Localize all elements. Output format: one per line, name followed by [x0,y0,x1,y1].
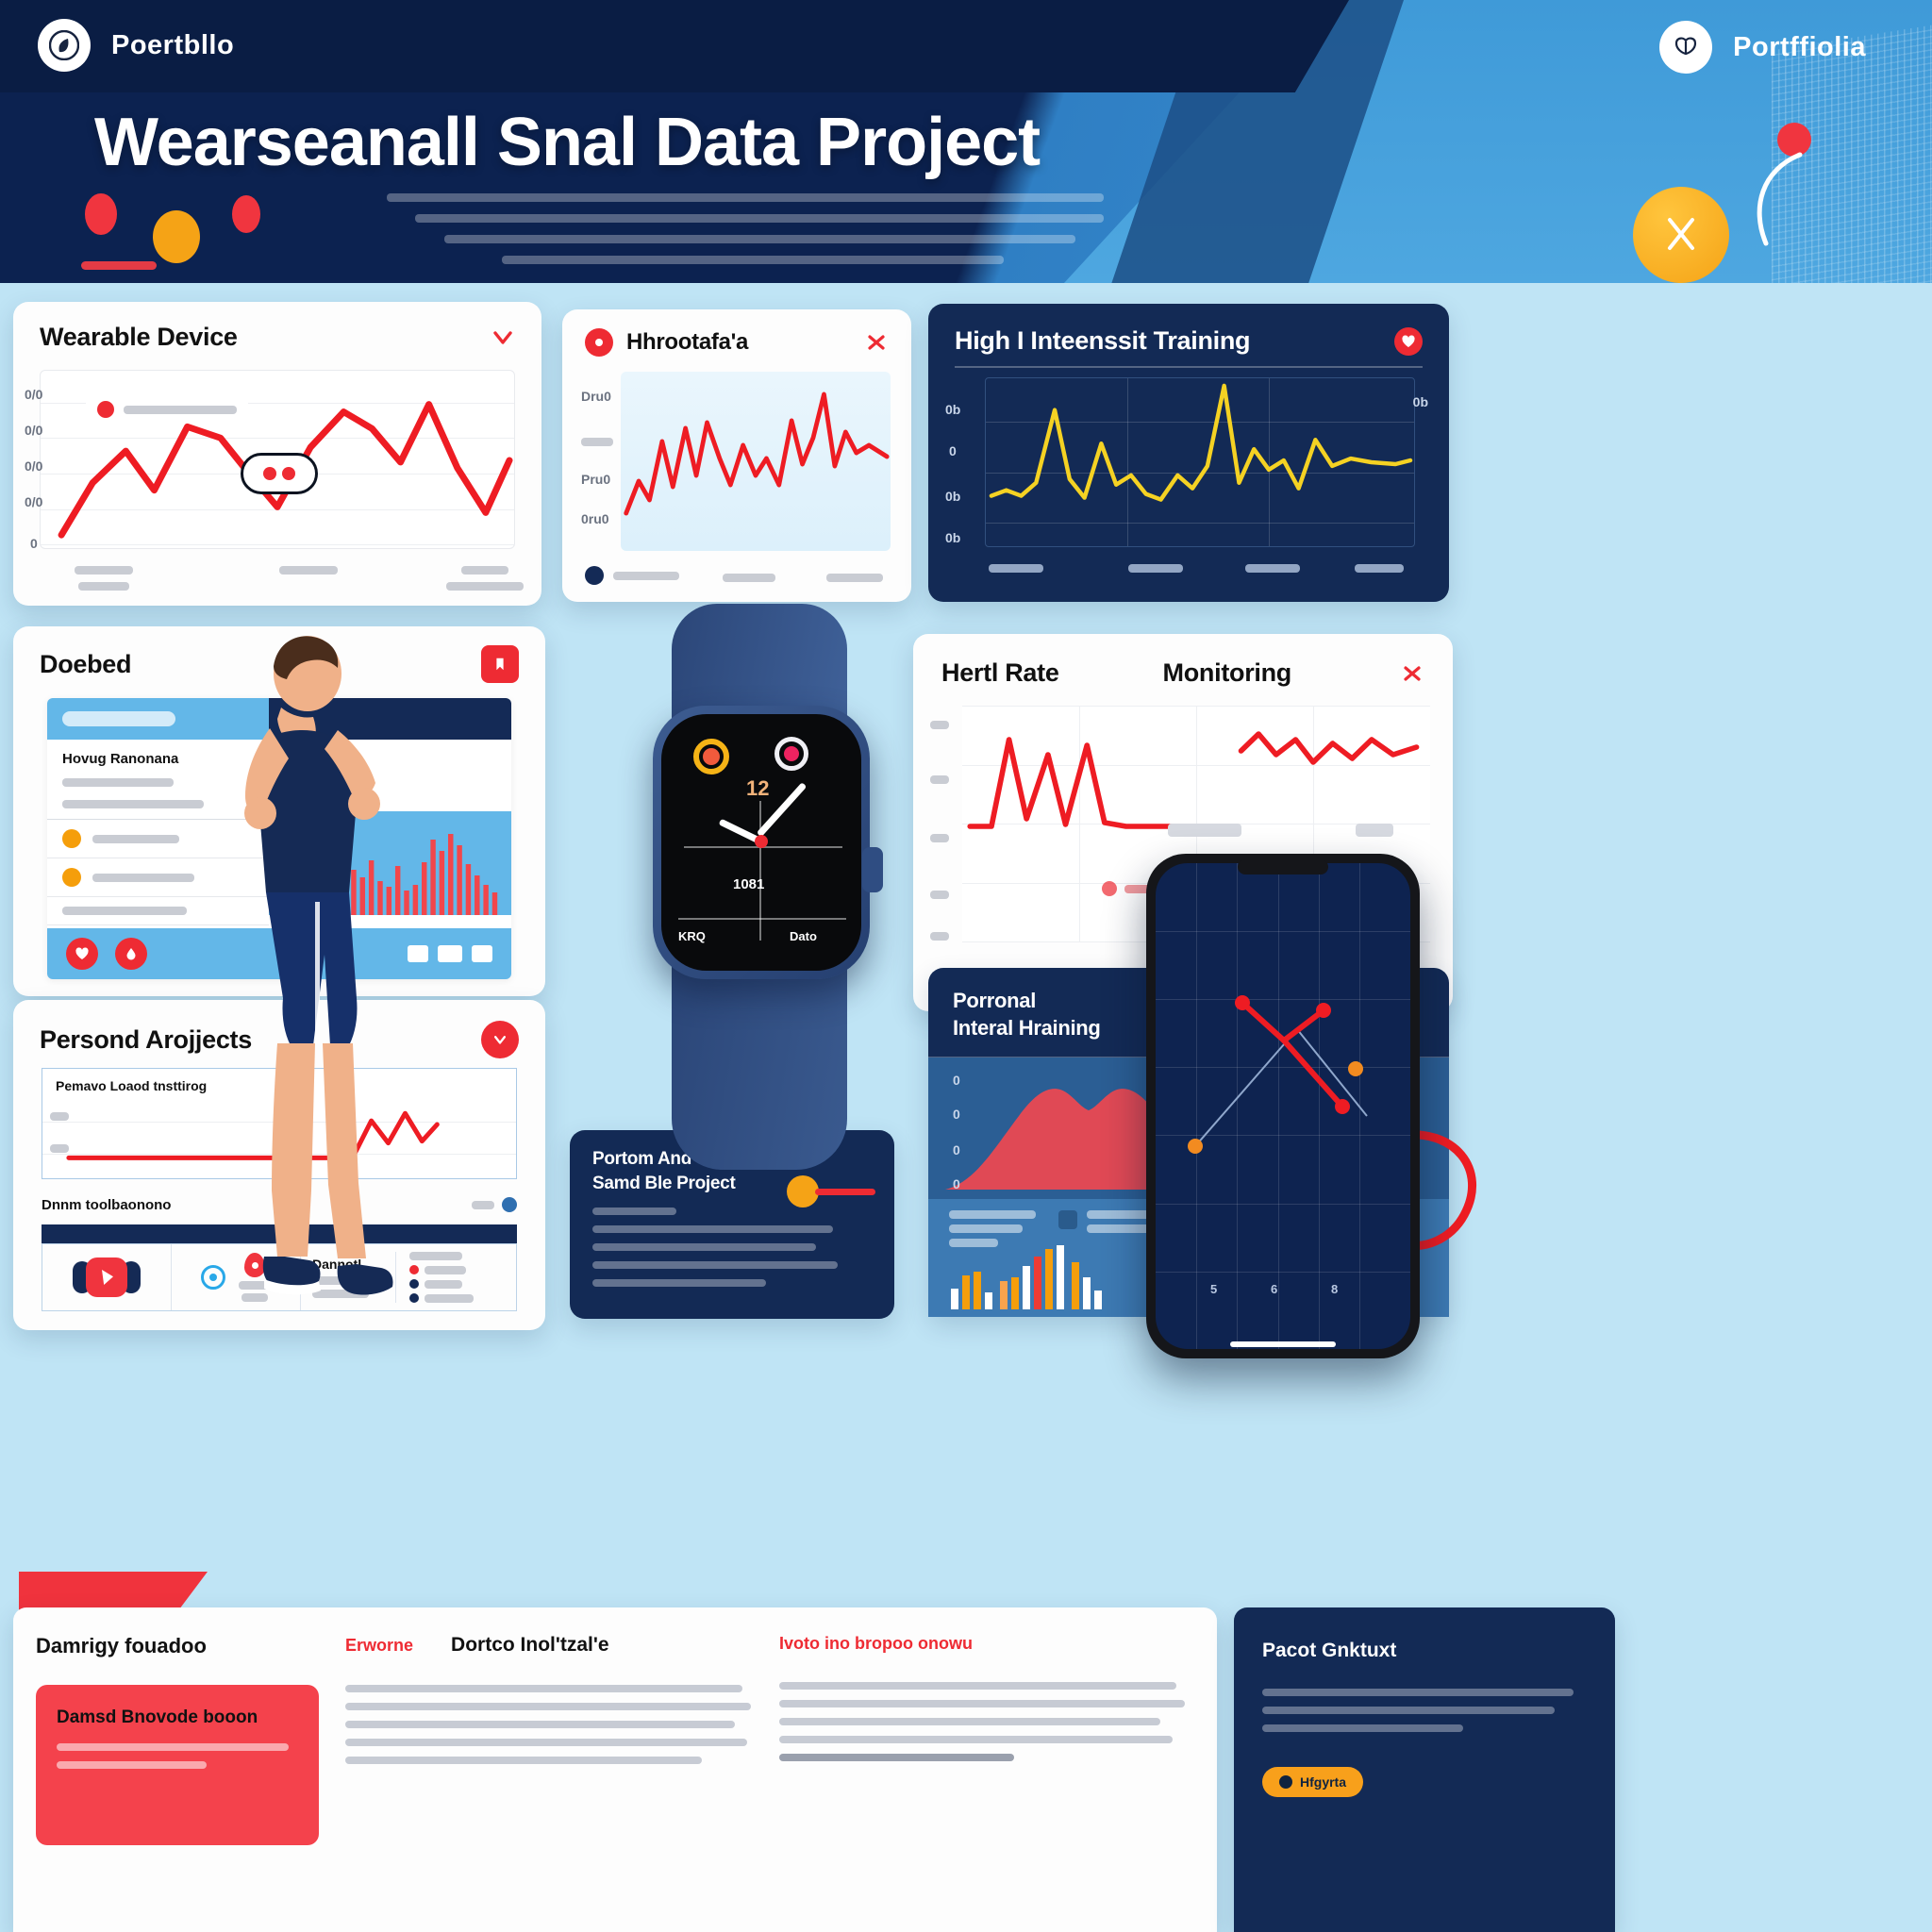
body-line [592,1225,833,1233]
hiit-card[interactable]: High I Inteenssit Training 0b 0 0b 0b 0b [928,304,1449,602]
footer-cta-button[interactable]: Hfgyrta [1262,1767,1363,1797]
watch-axis-baseline [678,918,846,920]
footer-col3-line [779,1754,1014,1761]
footer-col2-line [345,1685,742,1692]
butterfly-logo-icon [1659,21,1712,74]
hr-inline-value-1 [1168,824,1241,837]
legend-label [949,1210,1036,1219]
table-cell-bullet [425,1280,462,1289]
y-tick: 0 [953,1176,960,1191]
dashboard-list-header-pill [62,711,175,726]
y-tick: 0 [953,1073,960,1088]
y-tick: 0 [30,536,38,551]
header-dot-decoration [75,193,292,259]
personal-projects-title: Persond Arojjects [40,1025,252,1055]
close-x-icon[interactable] [1400,661,1424,686]
red-dot-2 [232,195,260,233]
subtitle-line [387,193,1104,202]
body-line [592,1261,838,1269]
droplet-icon[interactable] [115,938,147,970]
red-accent-bar [815,1189,875,1195]
amber-dot [153,210,200,263]
phone-screen[interactable]: 5 6 8 [1156,863,1410,1349]
watch-screen[interactable]: 12 1081 KRQ Dato [661,714,861,971]
x-tick [826,570,883,585]
footer-col2-line [345,1721,735,1728]
watch-crown[interactable] [862,847,883,892]
phone-x-tick: 5 [1210,1282,1217,1296]
y-tick [930,721,949,729]
leaf-logo-icon [38,19,91,72]
y-tick [930,834,949,842]
x-tick [438,562,532,593]
body-line [592,1279,766,1287]
footer-col3-line [779,1700,1185,1707]
footer-col4-line [1262,1707,1555,1714]
list-item-label [92,835,179,843]
watch-center-dot [755,835,768,848]
list-item-label [92,874,194,882]
chevron-down-icon[interactable] [481,1021,519,1058]
phone-x-tick: 6 [1271,1282,1277,1296]
bookmark-icon[interactable] [481,645,519,683]
y-tick: 0/0 [25,423,42,438]
phone-notch [1238,859,1328,874]
footer-col1-heading: Damrigy fouadoo [36,1634,319,1658]
header-subtitle-block [387,193,1104,276]
heartrate-card-title: Hhrootafa'a [626,329,748,356]
footer-col-2: Erworne Dortco Inol'tzal'e [345,1634,751,1774]
y-tick [50,1112,69,1121]
wearable-card-title: Wearable Device [40,323,238,352]
footer-col4-line [1262,1689,1574,1696]
legend-swatch [97,401,114,418]
x-tick [266,562,351,577]
dashboard-card-title: Doebed [40,650,131,679]
table-cell-device-icon[interactable] [42,1244,172,1310]
heartrate-legend [585,566,679,585]
legend-label [949,1224,1023,1233]
watch-body: 12 1081 KRQ Dato [653,706,870,979]
footer-cta-card[interactable]: Pacot Gnktuxt Hfgyrta [1234,1607,1615,1932]
y-tick: 0 [949,443,957,458]
x-tick [723,570,775,585]
info-icon[interactable] [502,1197,517,1212]
table-cell-bullet [425,1294,474,1303]
footer-panel-line [57,1743,289,1751]
body-line [592,1207,676,1215]
y-tick [581,434,613,449]
hiit-divider [955,366,1423,368]
brand-right[interactable]: Portffiolia [1659,21,1866,74]
y-tick: 0b [945,402,960,417]
phone-home-indicator[interactable] [1230,1341,1336,1347]
footer-col-3: Ivoto ino bropoo onowu [779,1634,1185,1772]
body-line [592,1243,816,1251]
y-tick: 0/0 [25,458,42,474]
chevron-down-icon[interactable] [491,325,515,350]
red-dot-1 [85,193,117,235]
y-tick [930,891,949,899]
footer-col2-line [345,1739,747,1746]
x-tick [66,562,142,593]
y-tick: 0/0 [25,387,42,402]
settings-icon[interactable] [472,945,492,962]
y-tick [50,1144,69,1153]
phone-mockup: 5 6 8 [1146,854,1420,1358]
y-tick: Dru0 [581,389,611,404]
page-title: Wearseanall Snal Data Project [94,104,1040,181]
ring-icon [201,1265,225,1290]
list-item-label [62,907,187,915]
status-dot-icon [62,868,81,887]
y-tick: 0 [953,1142,960,1158]
red-underline [81,261,157,270]
table-caption: Dnnm toolbaonono [42,1197,171,1213]
amber-accent-dot [787,1175,819,1207]
footer-panel-heading: Damsd Bnovode booon [57,1707,298,1728]
watch-metric-left: KRQ [678,929,706,943]
subtitle-line [444,235,1075,243]
close-x-icon[interactable] [864,330,889,355]
status-dot-icon [282,467,295,480]
heart-icon[interactable] [1394,327,1423,356]
footer-red-panel: Damsd Bnovode booon [36,1685,319,1845]
watch-metric-right: Dato [790,929,817,943]
footer-col2-heading: Dortco Inol'tzal'e [451,1634,609,1657]
wearable-legend [86,397,248,422]
heart-icon[interactable] [66,938,98,970]
dashboard-panel-title: Hovug Ranonana [62,751,254,767]
x-tick [1355,560,1404,575]
legend-swatch [1058,1210,1077,1229]
list-view-icon[interactable] [438,945,462,962]
header-swoosh-decoration [1706,142,1819,255]
footer-col-1: Damrigy fouadoo Damsd Bnovode booon [36,1634,319,1845]
footer-card: Damrigy fouadoo Damsd Bnovode booon Erwo… [13,1607,1217,1932]
y-tick: 0b [945,530,960,545]
footer-col3-line [779,1682,1176,1690]
record-icon [585,328,613,357]
subtitle-line [415,214,1104,223]
x-tick [1128,560,1183,575]
status-dot-icon [62,829,81,848]
y-tick [930,932,949,941]
heart-ring-inner [784,746,799,761]
x-tick [989,560,1043,575]
phone-x-tick: 8 [1331,1282,1338,1296]
brand-left-label: Poertbllo [111,30,234,61]
y-tick: 0ru0 [581,511,609,526]
hiit-corner-value: 0b [1413,394,1428,409]
arrow-right-icon [1279,1775,1292,1789]
watch-hour-label: 12 [746,776,769,801]
smartwatch-mockup: 12 1081 KRQ Dato [604,604,915,1160]
heartrate-card[interactable]: Hhrootafa'a Dru0 Pru0 0ru0 [562,309,911,602]
heartrate-plot [621,372,891,551]
footer-col4-line [1262,1724,1463,1732]
hr-monitoring-title-left: Hertl Rate [941,658,1059,688]
footer-col3-tag: Ivoto ino bropoo onowu [779,1634,1185,1654]
hr-monitoring-title-right: Monitoring [1163,658,1291,688]
y-tick: 0 [953,1107,960,1122]
table-cell-bullet [425,1266,466,1274]
x-tick [1245,560,1300,575]
watch-metric-value: 1081 [733,876,764,892]
footer-col3-line [779,1736,1173,1743]
status-dot-icon [263,467,276,480]
device-icon [73,1257,141,1297]
brand-right-label: Portffiolia [1733,32,1866,63]
activity-ring-icon [703,748,720,765]
footer-col2-line [345,1757,702,1764]
hiit-plot [985,377,1415,547]
brand-left[interactable]: Poertbllo [38,19,234,72]
footer-col3-line [779,1718,1160,1725]
legend-label [124,406,237,414]
footer-cta-label: Hfgyrta [1300,1774,1346,1790]
footer-col2-tag: Erworne [345,1636,413,1656]
y-tick: 0/0 [25,494,42,509]
footer-col4-heading: Pacot Gnktuxt [1262,1640,1587,1662]
page-header: Poertbllo Portffiolia Wearseanall Snal D… [0,0,1932,283]
y-tick: 0b [945,489,960,504]
hr-inline-value-2 [1356,824,1393,837]
watch-status-chip[interactable] [241,453,318,494]
y-tick [930,775,949,784]
footer-panel-line [57,1761,207,1769]
runner-illustration [232,628,421,1326]
y-tick: Pru0 [581,472,610,487]
subtitle-line [502,256,1004,264]
footer-col2-line [345,1703,751,1710]
hiit-card-title: High I Inteenssit Training [955,326,1250,356]
table-meta [472,1201,494,1209]
